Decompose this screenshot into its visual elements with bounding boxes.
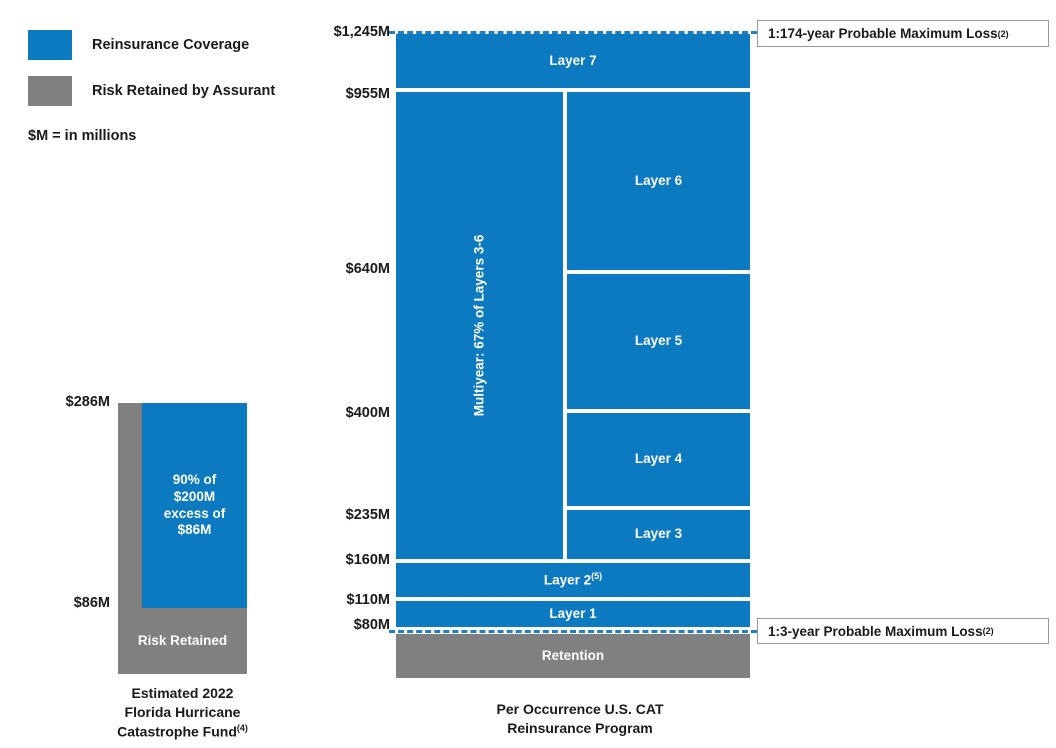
cat-layer-2-footnote: (5): [591, 571, 602, 581]
cat-layer-2-label-wrap: Layer 2(5): [544, 571, 602, 589]
fhcf-caption: Estimated 2022 Florida Hurricane Catastr…: [65, 684, 300, 741]
cat-axis-label-1245m: $1,245M: [290, 24, 390, 40]
fhcf-risk-retained-label: Risk Retained: [138, 633, 227, 650]
callout-3-year-pml-text: 1:3-year Probable Maximum Loss: [768, 624, 983, 639]
cat-retention-block: Retention: [396, 634, 750, 678]
cat-axis-label-235m: $235M: [290, 507, 390, 523]
cat-caption: Per Occurrence U.S. CAT Reinsurance Prog…: [450, 700, 710, 738]
legend-label-risk-retained: Risk Retained by Assurant: [92, 83, 275, 99]
cat-layer-6-label: Layer 6: [635, 173, 682, 190]
legend-label-reinsurance-coverage: Reinsurance Coverage: [92, 37, 249, 53]
callout-3-year-pml: 1:3-year Probable Maximum Loss(2): [757, 618, 1049, 644]
cat-axis-label-110m: $110M: [290, 592, 390, 608]
cat-axis-label-160m: $160M: [290, 552, 390, 568]
cat-layer-7-label: Layer 7: [549, 53, 596, 70]
fhcf-caption-line-2: Florida Hurricane: [65, 703, 300, 722]
legend-swatch-blue-icon: [28, 30, 72, 60]
cat-axis-label-640m: $640M: [290, 261, 390, 277]
cat-retention-label: Retention: [542, 648, 604, 665]
fhcf-axis-label-86m: $86M: [40, 595, 110, 611]
legend-item-reinsurance-coverage: Reinsurance Coverage: [28, 30, 275, 60]
cat-layer-2-label: Layer 2: [544, 572, 591, 587]
fhcf-coverage-line-2: $200M: [174, 489, 215, 506]
callout-174-year-pml: 1:174-year Probable Maximum Loss(2): [757, 20, 1049, 47]
cat-caption-line-1: Per Occurrence U.S. CAT: [450, 700, 710, 719]
fhcf-caption-line-3-wrap: Catastrophe Fund(4): [65, 722, 300, 742]
legend-note: $M = in millions: [28, 128, 136, 144]
legend-swatch-gray-icon: [28, 76, 72, 106]
cat-layer-5-label: Layer 5: [635, 333, 682, 350]
fhcf-caption-footnote: (4): [237, 723, 248, 733]
cat-layer-3-block: Layer 3: [567, 510, 750, 559]
fhcf-caption-line-3: Catastrophe Fund: [117, 723, 237, 739]
fhcf-coverage-block: 90% of $200M excess of $86M: [142, 403, 247, 608]
pml-bottom-leader-line: [389, 630, 757, 633]
cat-layer-4-block: Layer 4: [567, 413, 750, 506]
legend: Reinsurance Coverage Risk Retained by As…: [28, 30, 275, 122]
cat-layer-3-label: Layer 3: [635, 526, 682, 543]
cat-layer-5-block: Layer 5: [567, 274, 750, 409]
callout-3-year-pml-footnote: (2): [983, 626, 994, 636]
cat-layer-6-block: Layer 6: [567, 92, 750, 270]
fhcf-caption-line-1: Estimated 2022: [65, 684, 300, 703]
cat-caption-line-2: Reinsurance Program: [450, 719, 710, 738]
fhcf-coverage-line-4: $86M: [178, 522, 212, 539]
cat-layer-7-block: Layer 7: [396, 34, 750, 88]
cat-layer-2-block: Layer 2(5): [396, 563, 750, 597]
fhcf-axis-label-286m: $286M: [40, 394, 110, 410]
cat-multiyear-column: Multiyear: 67% of Layers 3-6: [396, 92, 563, 559]
fhcf-coverage-line-3: excess of: [164, 506, 226, 523]
pml-top-leader-line: [389, 31, 757, 34]
cat-axis-label-80m: $80M: [290, 617, 390, 633]
legend-item-risk-retained: Risk Retained by Assurant: [28, 76, 275, 106]
cat-layer-4-label: Layer 4: [635, 451, 682, 468]
cat-layer-1-block: Layer 1: [396, 601, 750, 627]
fhcf-coverage-line-1: 90% of: [173, 472, 217, 489]
cat-multiyear-label: Multiyear: 67% of Layers 3-6: [471, 235, 488, 417]
callout-174-year-pml-footnote: (2): [998, 29, 1009, 39]
cat-axis-label-955m: $955M: [290, 86, 390, 102]
callout-174-year-pml-text: 1:174-year Probable Maximum Loss: [768, 26, 998, 41]
cat-axis-label-400m: $400M: [290, 405, 390, 421]
cat-layer-1-label: Layer 1: [549, 606, 596, 623]
